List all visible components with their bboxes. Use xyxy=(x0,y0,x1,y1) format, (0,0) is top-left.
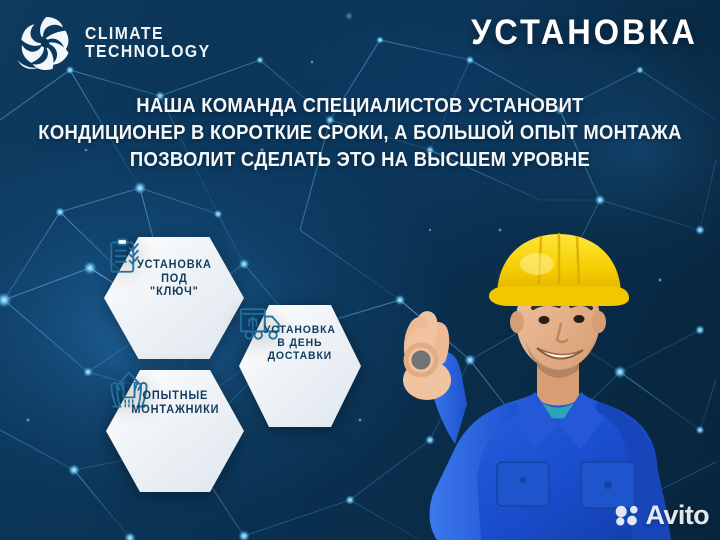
feature-3-line1: ОПЫТНЫЕ xyxy=(131,390,219,404)
brand-name-line2: TECHNOLOGY xyxy=(85,43,211,61)
headline-line-1: НАША КОМАНДА СПЕЦИАЛИСТОВ УСТАНОВИТ xyxy=(36,92,684,119)
fan-spiral-logo-icon xyxy=(14,12,76,74)
feature-hexagon-1[interactable]: УСТАНОВКА ПОД "КЛЮЧ" xyxy=(103,236,245,360)
avito-label: Avito xyxy=(646,500,710,531)
feature-hexagon-3[interactable]: ОПЫТНЫЕ МОНТАЖНИКИ xyxy=(105,369,245,493)
feature-1-line1: УСТАНОВКА xyxy=(137,259,212,273)
feature-hexagon-2[interactable]: УСТАНОВКА В ДЕНЬ ДОСТАВКИ xyxy=(238,304,362,428)
feature-3-line2: МОНТАЖНИКИ xyxy=(131,404,219,418)
brand-logo: CLIMATE TECHNOLOGY xyxy=(14,12,224,74)
avito-dots-icon xyxy=(614,505,641,527)
page-title: УСТАНОВКА xyxy=(471,13,698,53)
headline-line-3: ПОЗВОЛИТ СДЕЛАТЬ ЭТО НА ВЫСШЕМ УРОВНЕ xyxy=(36,146,684,173)
feature-2-line2: В ДЕНЬ xyxy=(264,337,336,350)
promo-banner: CLIMATE TECHNOLOGY УСТАНОВКА НАША КОМАНД… xyxy=(0,0,720,540)
feature-2-line3: ДОСТАВКИ xyxy=(264,350,336,363)
feature-1-line3: "КЛЮЧ" xyxy=(137,286,212,300)
avito-watermark: Avito xyxy=(614,500,710,531)
technician-photo xyxy=(385,212,720,540)
headline-line-2: КОНДИЦИОНЕР В КОРОТКИЕ СРОКИ, А БОЛЬШОЙ … xyxy=(36,119,684,146)
headline-block: НАША КОМАНДА СПЕЦИАЛИСТОВ УСТАНОВИТ КОНД… xyxy=(0,92,720,173)
feature-2-line1: УСТАНОВКА xyxy=(264,324,336,337)
feature-1-line2: ПОД xyxy=(137,273,212,287)
